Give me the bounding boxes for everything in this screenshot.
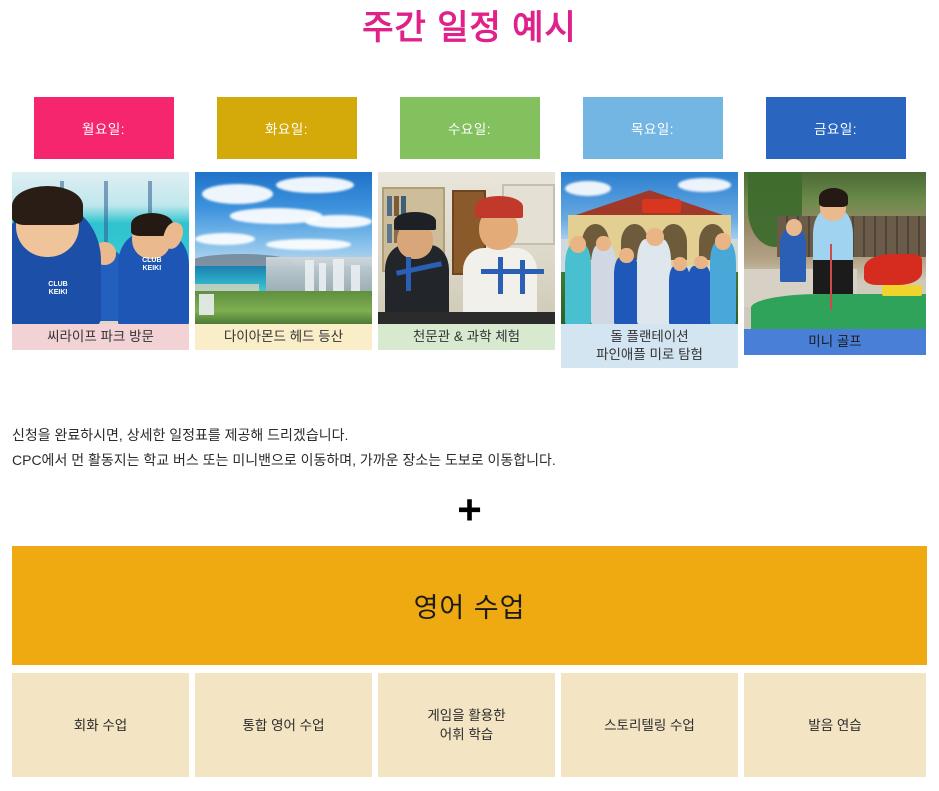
activity-caption-thursday-line2: 파인애플 미로 탐험	[596, 347, 703, 362]
english-class-tile-game-vocabulary[interactable]: 게임을 활용한 어휘 학습	[378, 673, 555, 777]
day-header-cell-friday: 금요일:	[744, 97, 927, 159]
day-header-cell-wednesday: 수요일:	[378, 97, 561, 159]
science-classroom-photo	[378, 172, 555, 324]
mini-golf-photo	[744, 172, 926, 329]
day-chip-wednesday[interactable]: 수요일:	[400, 97, 540, 159]
activity-card-tuesday[interactable]: 다이아몬드 헤드 등산	[195, 172, 378, 404]
schedule-notes: 신청을 완료하시면, 상세한 일정표를 제공해 드리겠습니다. CPC에서 먼 …	[12, 423, 912, 473]
english-class-banner-title: 영어 수업	[414, 586, 526, 625]
english-class-cell-3: 게임을 활용한 어휘 학습	[378, 673, 561, 777]
activity-card-row: CLUBKEIKI CLUBKEIKI 씨라이프 파크 방문	[12, 172, 927, 404]
english-class-tile-conversation[interactable]: 회화 수업	[12, 673, 189, 777]
english-class-cell-2: 통합 영어 수업	[195, 673, 378, 777]
english-class-row: 회화 수업 통합 영어 수업 게임을 활용한 어휘 학습 스토리텔링 수업 발음…	[12, 673, 927, 777]
activity-caption-tuesday: 다이아몬드 헤드 등산	[195, 324, 372, 350]
english-class-banner: 영어 수업	[12, 546, 927, 665]
activity-card-thursday[interactable]: 돌 플랜테이션 파인애플 미로 탐험	[561, 172, 744, 404]
activity-card-friday[interactable]: 미니 골프	[744, 172, 927, 404]
day-header-cell-monday: 월요일:	[12, 97, 195, 159]
english-class-tile-integrated[interactable]: 통합 영어 수업	[195, 673, 372, 777]
english-class-cell-5: 발음 연습	[744, 673, 927, 777]
activity-caption-wednesday: 천문관 & 과학 체험	[378, 324, 555, 350]
activity-card-monday[interactable]: CLUBKEIKI CLUBKEIKI 씨라이프 파크 방문	[12, 172, 195, 404]
day-chip-friday[interactable]: 금요일:	[766, 97, 906, 159]
day-header-row: 월요일: 화요일: 수요일: 목요일: 금요일:	[12, 97, 927, 159]
activity-caption-friday: 미니 골프	[744, 329, 926, 355]
day-header-cell-thursday: 목요일:	[561, 97, 744, 159]
aquarium-sealife-photo: CLUBKEIKI CLUBKEIKI	[12, 172, 189, 324]
page-title: 주간 일정 예시	[0, 5, 939, 51]
schedule-note-line-2: CPC에서 먼 활동지는 학교 버스 또는 미니밴으로 이동하며, 가까운 장소…	[12, 448, 912, 473]
english-class-tile-game-vocabulary-line1: 게임을 활용한	[427, 708, 505, 723]
english-class-tile-game-vocabulary-line2: 어휘 학습	[440, 727, 493, 742]
activity-caption-monday: 씨라이프 파크 방문	[12, 324, 189, 350]
weekly-schedule-page: 주간 일정 예시 월요일: 화요일: 수요일: 목요일: 금요일:	[0, 0, 939, 791]
schedule-note-line-1: 신청을 완료하시면, 상세한 일정표를 제공해 드리겠습니다.	[12, 423, 912, 448]
day-chip-thursday[interactable]: 목요일:	[583, 97, 723, 159]
english-class-tile-storytelling[interactable]: 스토리텔링 수업	[561, 673, 738, 777]
english-class-tile-pronunciation[interactable]: 발음 연습	[744, 673, 926, 777]
diamond-head-vista-photo	[195, 172, 372, 324]
dole-plantation-photo	[561, 172, 738, 324]
activity-caption-thursday-line1: 돌 플랜테이션	[610, 329, 688, 344]
day-chip-monday[interactable]: 월요일:	[34, 97, 174, 159]
activity-card-wednesday[interactable]: 천문관 & 과학 체험	[378, 172, 561, 404]
activity-caption-thursday: 돌 플랜테이션 파인애플 미로 탐험	[561, 324, 738, 368]
english-class-cell-1: 회화 수업	[12, 673, 195, 777]
day-header-cell-tuesday: 화요일:	[195, 97, 378, 159]
english-class-cell-4: 스토리텔링 수업	[561, 673, 744, 777]
day-chip-tuesday[interactable]: 화요일:	[217, 97, 357, 159]
plus-icon: +	[0, 487, 939, 533]
